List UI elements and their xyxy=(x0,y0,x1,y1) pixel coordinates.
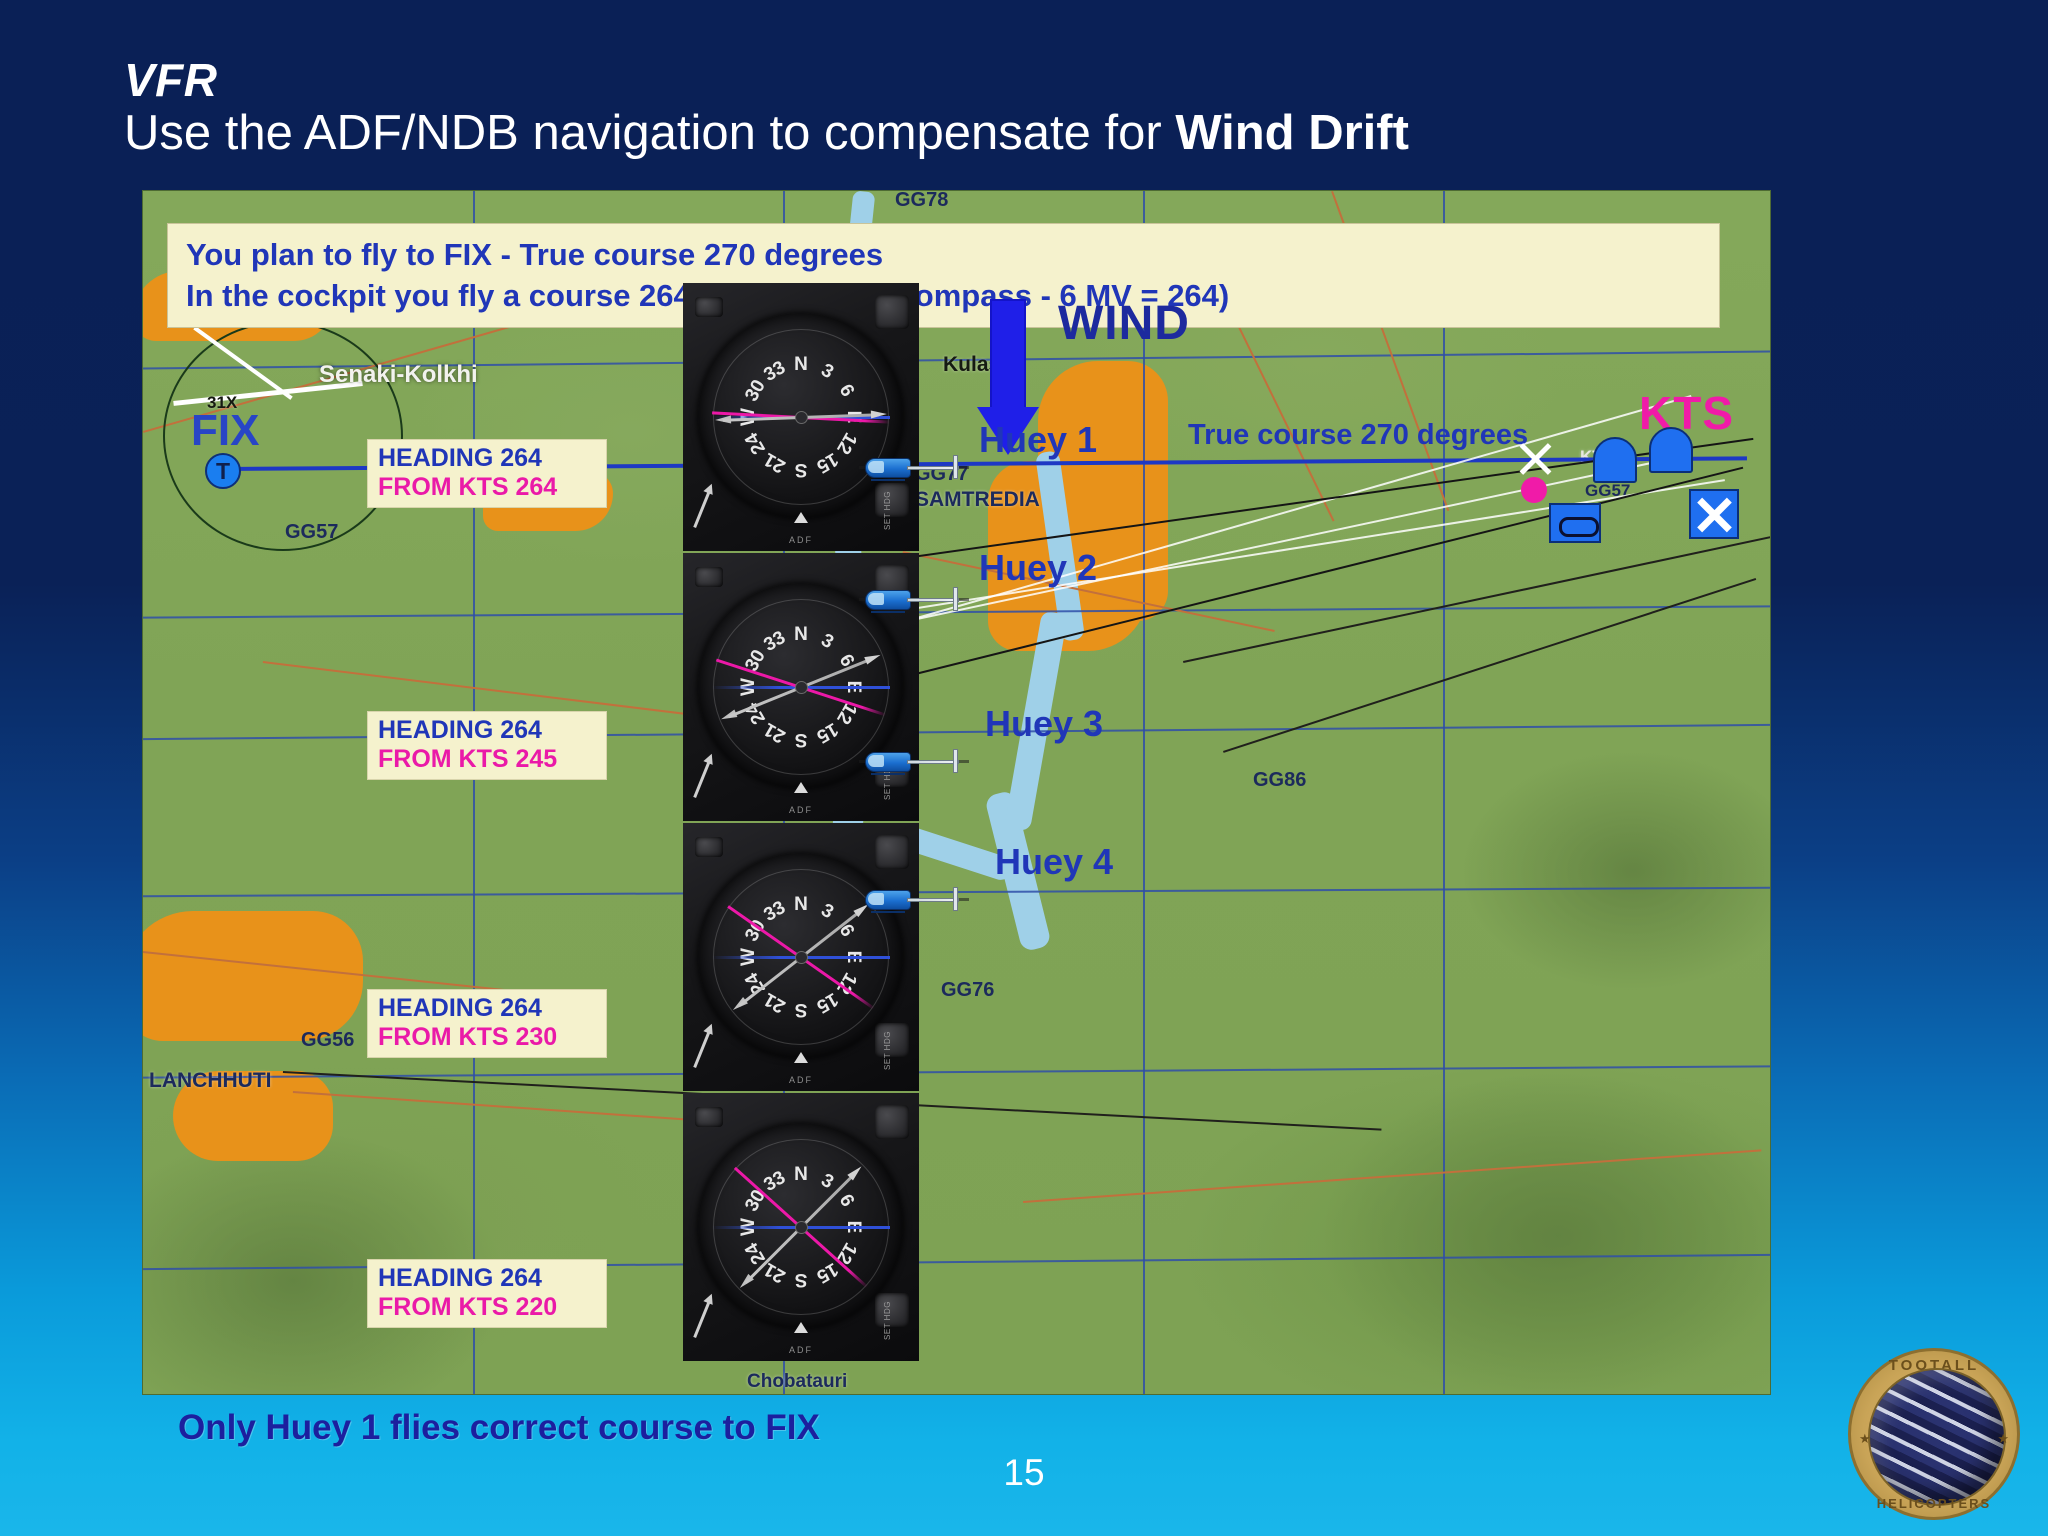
compass-direction-label: 21 xyxy=(760,447,789,477)
page-number: 15 xyxy=(0,1452,2048,1494)
compass-direction-label: 15 xyxy=(812,987,841,1017)
huey-4-label: Huey 4 xyxy=(995,841,1113,883)
tail-fin xyxy=(953,749,958,773)
huey-1-label: Huey 1 xyxy=(979,419,1097,461)
tail-boom xyxy=(907,466,959,470)
needle-hub xyxy=(795,951,808,964)
landing-skid xyxy=(871,773,905,775)
tail-fin xyxy=(953,455,958,479)
map-label-samtredia: SAMTREDIA xyxy=(915,488,1040,512)
needle-hub xyxy=(795,411,808,424)
kts-label: KTS xyxy=(1639,386,1734,440)
cockpit-window xyxy=(868,593,884,605)
instrument-arrow-marker xyxy=(693,758,712,798)
wind-arrow-stem xyxy=(990,299,1026,411)
callout-heading-text: HEADING 264 xyxy=(378,444,596,473)
adf-instrument-huey-1: SET HDG N36E1215S2124W3033 ADF xyxy=(683,283,919,551)
instrument-knob-top-right[interactable] xyxy=(875,295,909,329)
instrument-bottom-marking: ADF xyxy=(789,1075,813,1085)
page-title: VFR xyxy=(124,56,1824,104)
compass-direction-label: 3 xyxy=(817,900,837,924)
compass-direction-label: 33 xyxy=(760,897,789,927)
tail-boom xyxy=(907,598,959,602)
instrument-bottom-marking: ADF xyxy=(789,535,813,545)
grid-label-gg78: GG78 xyxy=(895,190,948,212)
compass-direction-label: 33 xyxy=(760,627,789,657)
instrument-knob-top-left[interactable] xyxy=(695,297,723,317)
compass-direction-label: S xyxy=(795,998,808,1020)
compass-direction-label: N xyxy=(794,894,808,916)
instrument-knob-top-left[interactable] xyxy=(695,1107,723,1127)
cockpit-window xyxy=(868,461,884,473)
needle-head xyxy=(871,410,887,419)
adf-instrument-huey-3: SET HDG N36E1215S2124W3033 ADF xyxy=(683,823,919,1091)
callout-huey-4: HEADING 264 FROM KTS 220 xyxy=(367,1259,607,1328)
grid-label-gg86: GG86 xyxy=(1253,769,1306,792)
instrument-bottom-marking: ADF xyxy=(789,805,813,815)
compass-direction-label: 30 xyxy=(741,376,771,405)
compass-direction-label: 15 xyxy=(812,717,841,747)
cockpit-window xyxy=(868,755,884,767)
page-subtitle: Use the ADF/NDB navigation to compensate… xyxy=(124,106,1824,161)
kts-navaid-cross-icon xyxy=(1515,439,1555,479)
tail-fin xyxy=(953,887,958,911)
huey-3-label: Huey 3 xyxy=(985,703,1103,745)
plan-info-line-1: You plan to fly to FIX - True course 270… xyxy=(186,234,1701,275)
subtitle-emphasis: Wind Drift xyxy=(1175,106,1409,160)
compass-index-triangle xyxy=(794,1052,808,1063)
footer-note: Only Huey 1 flies correct course to FIX xyxy=(178,1408,820,1448)
landing-skid xyxy=(871,479,905,481)
landing-skid xyxy=(871,911,905,913)
kts-structure-icon xyxy=(1649,427,1693,473)
map-label-chobatauri: Chobatauri xyxy=(747,1371,847,1393)
huey-3-aircraft xyxy=(865,743,965,779)
terrain-hills xyxy=(1323,1071,1771,1395)
compass-direction-label: N xyxy=(794,354,808,376)
huey-1-aircraft xyxy=(865,449,965,485)
callout-heading-text: HEADING 264 xyxy=(378,994,596,1023)
needle-hub xyxy=(795,681,808,694)
instrument-arrow-marker xyxy=(693,1028,712,1068)
compass-direction-label: 12 xyxy=(831,1238,861,1267)
callout-kts-text: FROM KTS 245 xyxy=(378,745,596,774)
callout-huey-3: HEADING 264 FROM KTS 230 xyxy=(367,989,607,1058)
grid-label-gg56: GG56 xyxy=(301,1029,354,1052)
grid-label-gg76: GG76 xyxy=(941,979,994,1002)
tail-boom xyxy=(907,760,959,764)
logo-star-icon: ★ xyxy=(1859,1431,1871,1447)
compass-direction-label: S xyxy=(795,728,808,750)
map-gridline xyxy=(1143,191,1145,1395)
plan-info-line-2: In the cockpit you fly a course 264 degr… xyxy=(186,275,1701,316)
kts-flag-icon xyxy=(1689,489,1739,539)
compass-direction-label: 21 xyxy=(760,717,789,747)
logo-bottom-text: HELICOPTERS xyxy=(1851,1496,2017,1511)
compass-direction-label: 6 xyxy=(834,381,858,401)
huey-2-label: Huey 2 xyxy=(979,547,1097,589)
compass-direction-label: S xyxy=(795,458,808,480)
compass-direction-label: S xyxy=(795,1268,808,1290)
compass-index-triangle xyxy=(794,782,808,793)
tail-boom xyxy=(907,898,959,902)
compass-direction-label: 12 xyxy=(831,428,861,457)
subtitle-text: Use the ADF/NDB navigation to compensate… xyxy=(124,106,1175,160)
fix-navaid-marker: T xyxy=(205,453,241,489)
callout-heading-text: HEADING 264 xyxy=(378,716,596,745)
kts-structure-icon xyxy=(1593,437,1637,483)
map-figure: You plan to fly to FIX - True course 270… xyxy=(142,190,1771,1395)
map-label-lanchhuti: LANCHHUTI xyxy=(149,1069,271,1093)
landing-skid xyxy=(871,611,905,613)
map-label-senaki-kolkhi: Senaki-Kolkhi xyxy=(319,361,478,389)
huey-2-aircraft xyxy=(865,581,965,617)
callout-heading-text: HEADING 264 xyxy=(378,1264,596,1293)
logo-globe-icon xyxy=(1868,1368,2006,1506)
cockpit-window xyxy=(868,893,884,905)
instrument-knob-top-right[interactable] xyxy=(875,835,909,869)
map-gridline xyxy=(1443,191,1445,1395)
callout-kts-text: FROM KTS 264 xyxy=(378,473,596,502)
true-course-label: True course 270 degrees xyxy=(1188,419,1528,452)
compass-index-triangle xyxy=(794,512,808,523)
compass-direction-label: 21 xyxy=(760,987,789,1017)
callout-kts-text: FROM KTS 230 xyxy=(378,1023,596,1052)
needle-hub xyxy=(795,1221,808,1234)
urban-zone xyxy=(142,911,363,1041)
adf-instrument-huey-4: SET HDG N36E1215S2124W3033 ADF xyxy=(683,1093,919,1361)
compass-direction-label: 30 xyxy=(741,1186,771,1215)
wind-label: WIND xyxy=(1058,296,1190,351)
huey-4-aircraft xyxy=(865,881,965,917)
compass-index-triangle xyxy=(794,1322,808,1333)
tootall-helicopters-logo: TOOTALL HELICOPTERS ★ ★ xyxy=(1848,1348,2020,1520)
kts-helipad-icon xyxy=(1549,503,1601,543)
callout-huey-1: HEADING 264 FROM KTS 264 xyxy=(367,439,607,508)
logo-star-icon: ★ xyxy=(1997,1431,2009,1447)
grid-label-gg57: GG57 xyxy=(285,521,338,544)
fix-label: FIX xyxy=(191,406,259,456)
tail-fin xyxy=(953,587,958,611)
callout-kts-text: FROM KTS 220 xyxy=(378,1293,596,1322)
compass-direction-label: N xyxy=(794,624,808,646)
instrument-bottom-marking: ADF xyxy=(789,1345,813,1355)
callout-huey-2: HEADING 264 FROM KTS 245 xyxy=(367,711,607,780)
kts-waypoint-marker xyxy=(1521,477,1547,503)
compass-direction-label: 3 xyxy=(817,630,837,654)
instrument-knob-top-left[interactable] xyxy=(695,567,723,587)
instrument-knob-top-right[interactable] xyxy=(875,1105,909,1139)
compass-direction-label: 15 xyxy=(812,447,841,477)
instrument-arrow-marker xyxy=(693,1298,712,1338)
plan-info-box: You plan to fly to FIX - True course 270… xyxy=(167,223,1720,328)
instrument-knob-top-left[interactable] xyxy=(695,837,723,857)
compass-direction-label: N xyxy=(794,1164,808,1186)
compass-direction-label: 33 xyxy=(760,357,789,387)
instrument-arrow-marker xyxy=(693,488,712,528)
slide-title-block: VFR Use the ADF/NDB navigation to compen… xyxy=(124,56,1824,161)
compass-direction-label: 3 xyxy=(817,360,837,384)
